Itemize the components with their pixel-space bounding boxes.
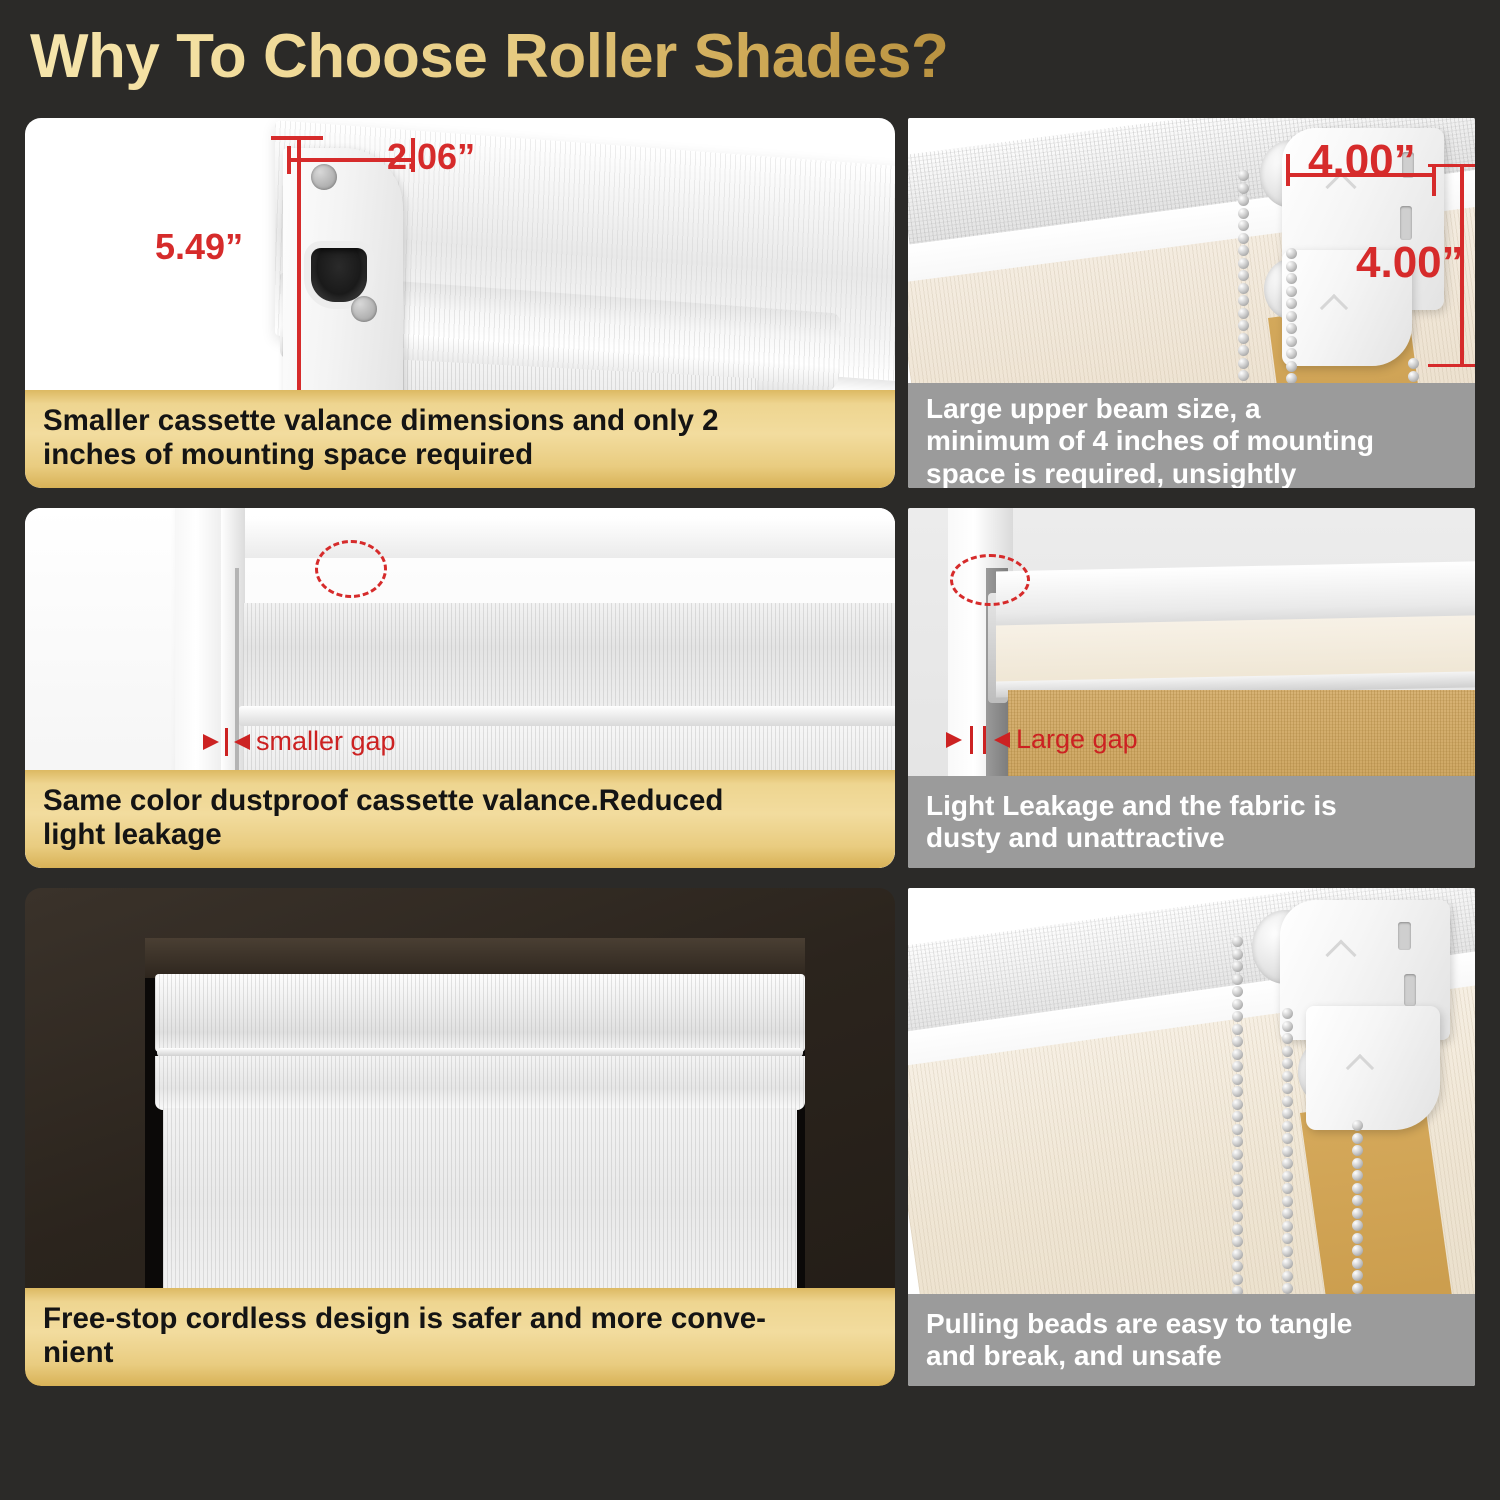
caption-smaller-cassette: Smaller cassette valance dimensions and … — [25, 390, 895, 488]
shade-cassette-head — [155, 974, 805, 1052]
caption-line: Light Leakage and the fabric is — [926, 790, 1457, 822]
caption-line: and break, and unsafe — [926, 1340, 1457, 1372]
highlight-circle-icon — [950, 554, 1030, 606]
caption-line: light leakage — [43, 818, 877, 852]
caption-line: nient — [43, 1336, 877, 1370]
endcap-screw-top — [311, 164, 337, 190]
bracket-slot-top — [1398, 922, 1411, 950]
caption-cordless-design: Free-stop cordless design is safer and m… — [25, 1288, 895, 1386]
caption-pulling-beads: Pulling beads are easy to tangle and bre… — [908, 1294, 1475, 1386]
width-dimension-label: 2.06” — [387, 136, 475, 178]
beam-height-tick-bottom — [1428, 364, 1475, 367]
bracket-arrow-mark — [1325, 939, 1356, 970]
panel-pulling-beads: Pulling beads are easy to tangle and bre… — [908, 888, 1475, 1386]
shade-fabric-body — [163, 1108, 797, 1298]
beam-width-dimension-label: 4.00” — [1308, 136, 1416, 186]
caption-line: dusty and unattractive — [926, 822, 1457, 854]
caption-line: Free-stop cordless design is safer and m… — [43, 1302, 877, 1336]
panel-light-leakage: Large gap Light Leakage and the fabric i… — [908, 508, 1475, 868]
mounting-bracket-lower — [1306, 1006, 1440, 1130]
large-gap-annotation: Large gap — [946, 724, 1138, 755]
caption-line: Same color dustproof cassette valance.Re… — [43, 784, 877, 818]
caption-line: minimum of 4 inches of mounting — [926, 425, 1457, 457]
shade-cassette-lip — [155, 1056, 805, 1110]
valance-bottom-rail — [239, 706, 895, 726]
caption-line: Large upper beam size, a — [926, 393, 1457, 425]
panel-large-upper-beam: 4.00” 4.00” Large upper beam size, a min… — [908, 118, 1475, 488]
caption-line: inches of mounting space required — [43, 438, 877, 472]
gap-tick-mark-right — [983, 726, 986, 754]
page-title: Why To Choose Roller Shades? — [0, 21, 948, 92]
height-dimension-label: 5.49” — [155, 226, 243, 268]
highlight-circle-icon — [315, 540, 387, 598]
gap-arrow-left-icon — [234, 734, 250, 750]
width-dimension-tick-left — [287, 146, 291, 174]
caption-line: Pulling beads are easy to tangle — [926, 1308, 1457, 1340]
bracket-slot-middle — [1400, 206, 1412, 240]
beam-height-tick-top — [1428, 164, 1475, 167]
endcap-screw-middle — [351, 296, 377, 322]
bracket-slot-middle — [1404, 974, 1416, 1006]
gap-label: smaller gap — [256, 726, 396, 757]
gap-tick-mark — [225, 728, 228, 756]
beam-width-tick-right — [1432, 164, 1436, 196]
height-dimension-tick-top — [271, 136, 323, 140]
caption-large-upper-beam: Large upper beam size, a minimum of 4 in… — [908, 383, 1475, 488]
page-header: Why To Choose Roller Shades? — [0, 0, 1500, 112]
beam-height-dimension-label: 4.00” — [1356, 238, 1464, 288]
caption-line: Smaller cassette valance dimensions and … — [43, 404, 877, 438]
smaller-gap-annotation: smaller gap — [203, 726, 396, 757]
panel-smaller-cassette: 2.06” 5.49” Smaller cassette valance dim… — [25, 118, 895, 488]
gap-arrow-right-icon — [946, 732, 962, 748]
panel-dustproof-valance: smaller gap Same color dustproof cassett… — [25, 508, 895, 868]
gap-arrow-right-icon — [203, 734, 219, 750]
bracket-arrow-mark-lower — [1346, 1054, 1374, 1082]
panel-cordless-design: Free-stop cordless design is safer and m… — [25, 888, 895, 1386]
cassette-valance-face — [243, 603, 895, 713]
endcap-bearing-hole — [311, 248, 367, 302]
caption-dustproof-valance: Same color dustproof cassette valance.Re… — [25, 770, 895, 868]
gap-label: Large gap — [1016, 724, 1138, 755]
caption-line: space is required, unsightly — [926, 458, 1457, 488]
gap-tick-mark-left — [970, 726, 973, 754]
beam-width-tick-left — [1286, 154, 1290, 186]
bracket-arrow-mark-lower — [1320, 294, 1348, 322]
window-reveal — [145, 938, 805, 978]
gap-arrow-left-icon — [994, 732, 1010, 748]
caption-light-leakage: Light Leakage and the fabric is dusty an… — [908, 776, 1475, 868]
